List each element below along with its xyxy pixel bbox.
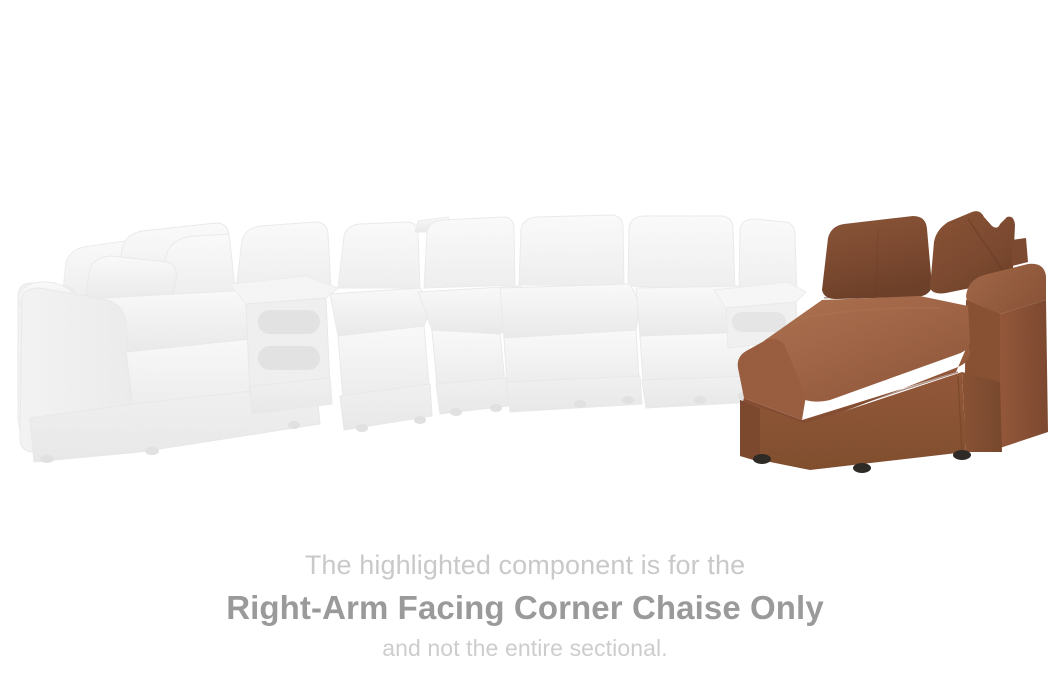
cup-holder-recess <box>258 310 320 334</box>
ghosted-sectional-group <box>18 215 806 463</box>
ghost-foot <box>356 424 368 432</box>
ghost-foot <box>694 396 706 404</box>
ghost-foot <box>145 447 159 455</box>
ghost-foot <box>490 404 502 412</box>
caption-line-disclaimer: and not the entire sectional. <box>0 634 1050 664</box>
cup-holder-recess <box>732 312 786 332</box>
ghost-foot <box>40 455 54 463</box>
ghost-armless-center <box>500 284 642 412</box>
ghost-foot <box>574 400 586 408</box>
ghost-foot <box>622 396 634 404</box>
chaise-base-left-face <box>740 400 760 462</box>
ghost-foot <box>288 421 300 429</box>
ghost-armless-left <box>330 288 432 432</box>
chaise-foot <box>953 450 971 460</box>
caption-block: The highlighted component is for the Rig… <box>0 548 1050 663</box>
chaise-foot <box>853 463 871 473</box>
chaise-right-arm-side <box>1000 300 1048 448</box>
cup-holder-recess <box>258 346 320 370</box>
product-image-page: The highlighted component is for the Rig… <box>0 0 1050 700</box>
ghost-foot <box>414 416 426 424</box>
chaise-back-riser <box>1012 238 1028 266</box>
caption-line-component-name: Right-Arm Facing Corner Chaise Only <box>0 587 1050 630</box>
chaise-foot <box>753 454 771 464</box>
sectional-sofa-svg <box>0 0 1050 520</box>
caption-line-intro: The highlighted component is for the <box>0 548 1050 584</box>
chaise-base-side <box>962 372 1002 452</box>
product-illustration <box>0 0 1050 520</box>
ghost-foot <box>450 408 462 416</box>
